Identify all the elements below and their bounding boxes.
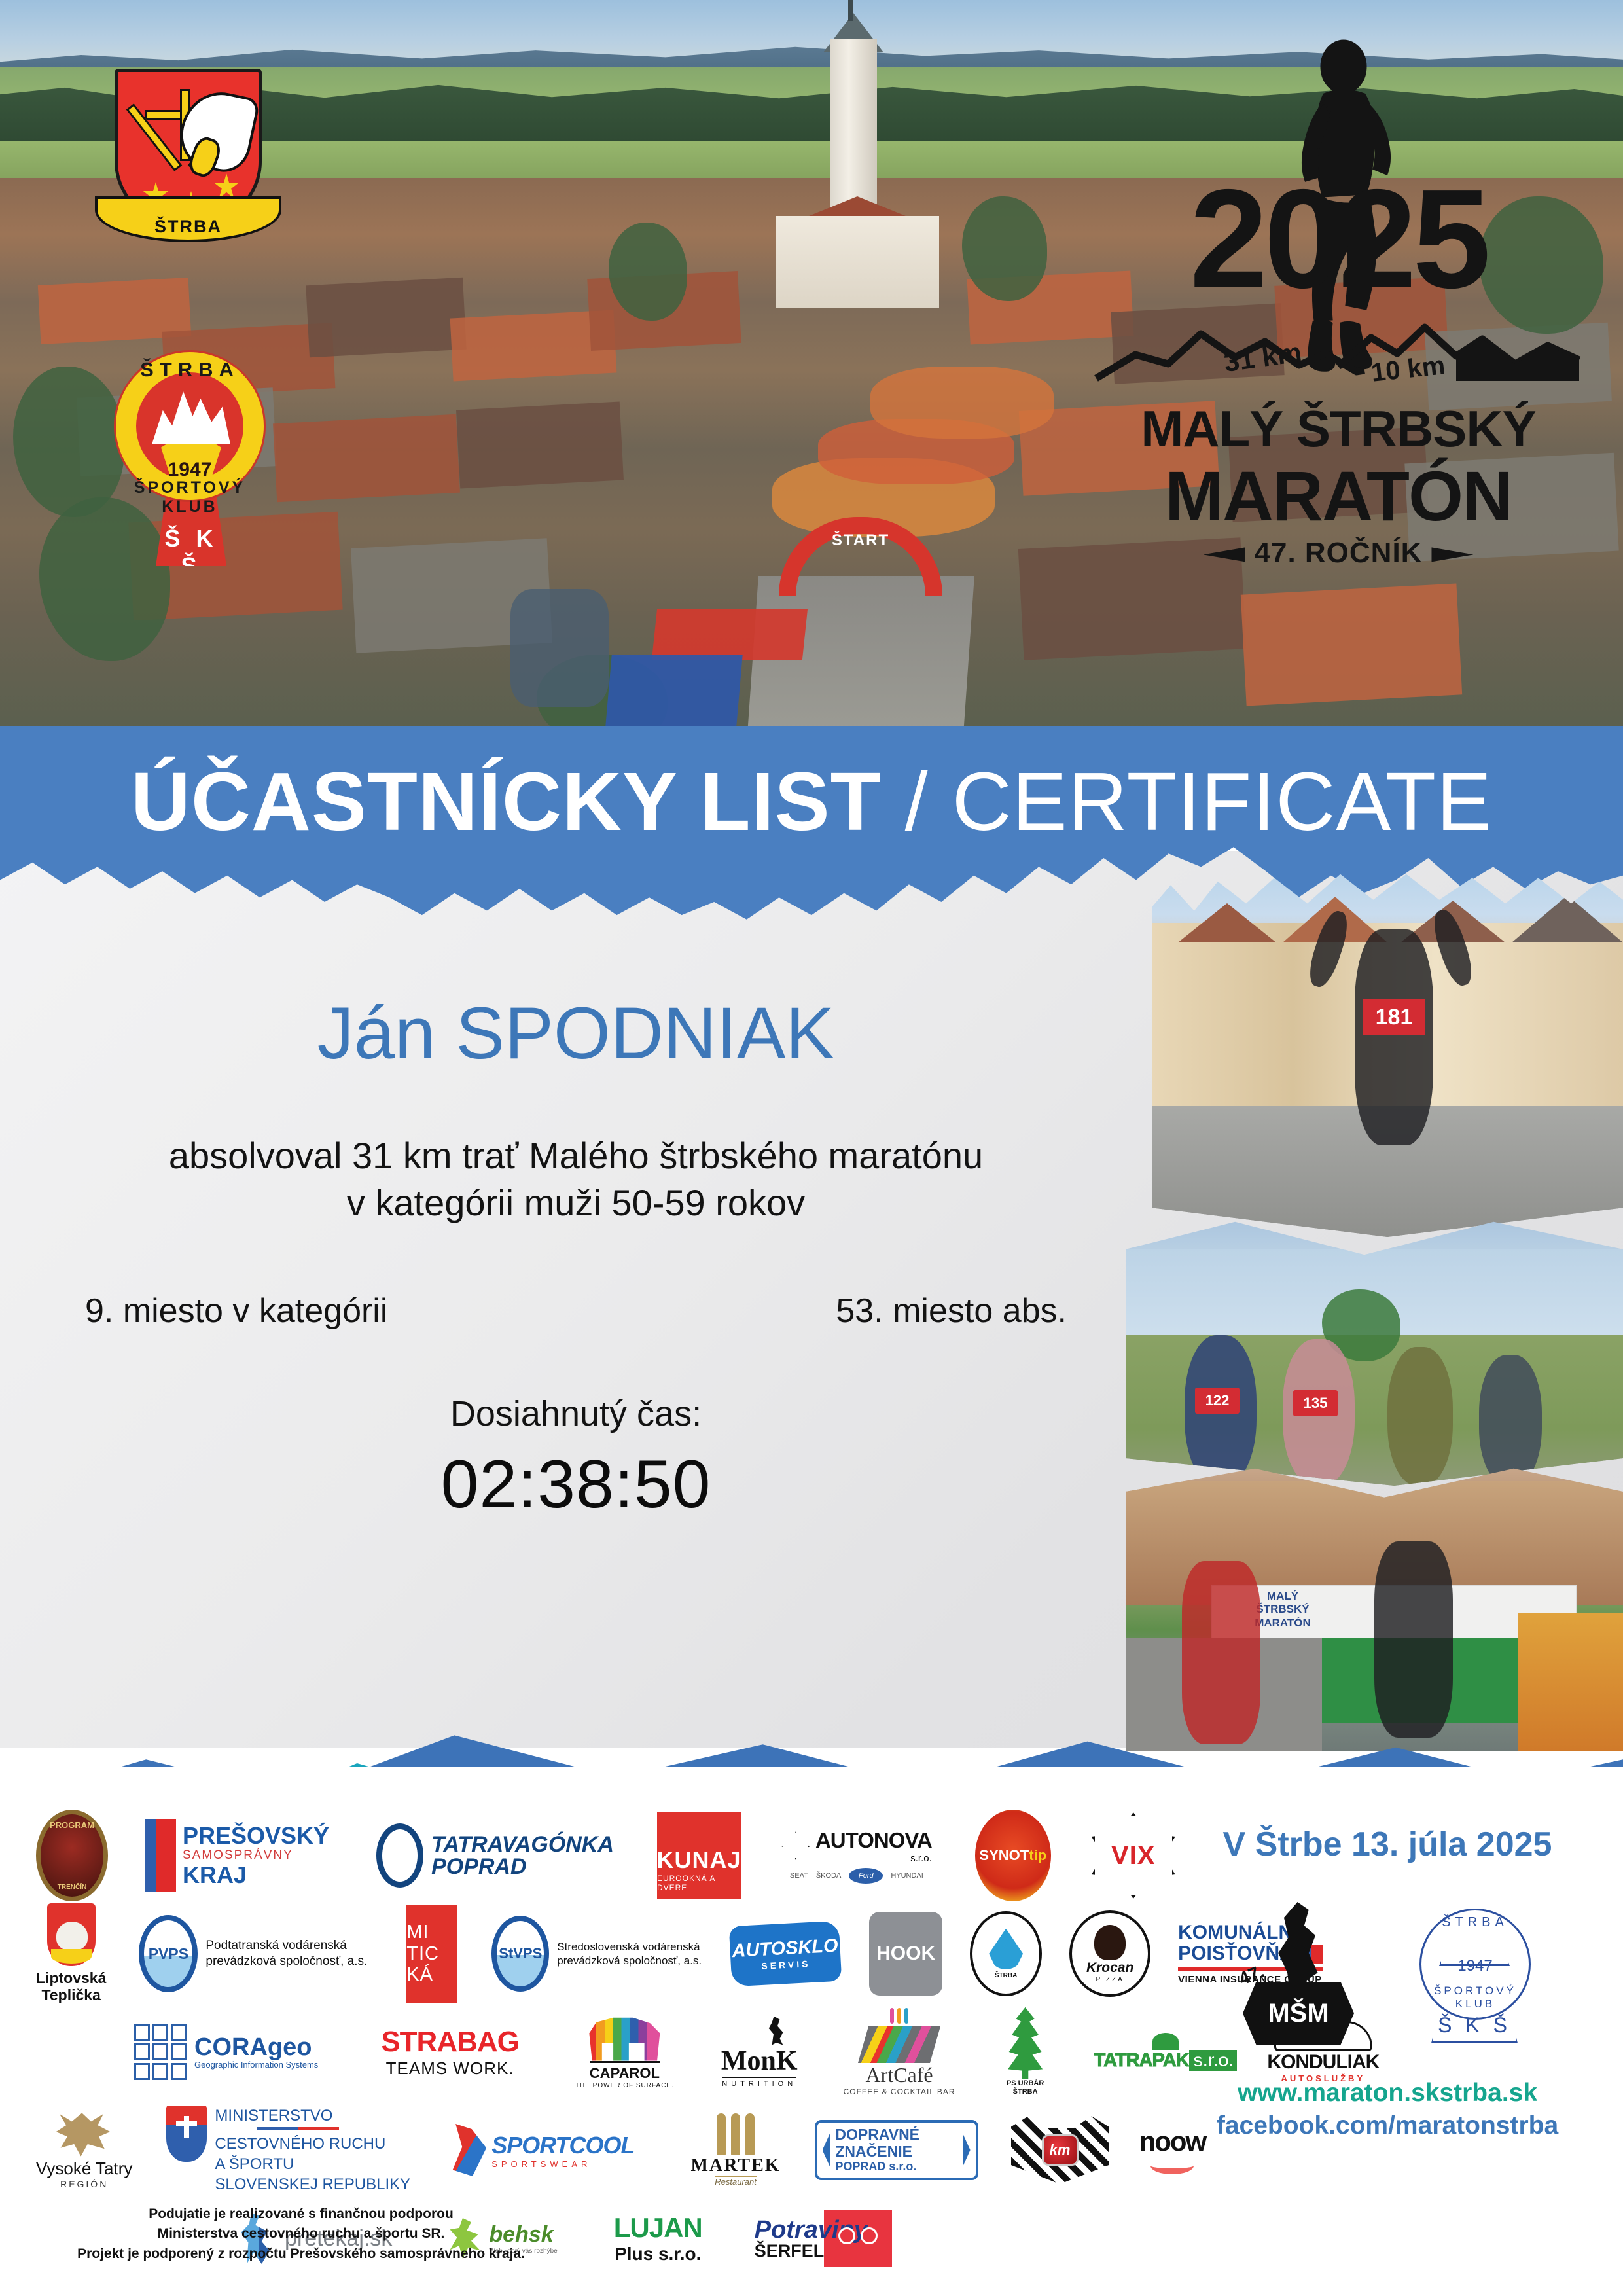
brand-line-2: MARATÓN <box>1083 455 1594 537</box>
start-gate-label: ŠTART <box>811 531 910 550</box>
footer-logo-pair: 47. MŠM ŠTRBA 1947 ŠPORTOVÝ KLUB Š K Š <box>1171 1901 1603 2047</box>
star-burst-icon <box>781 1831 810 1860</box>
msm-abbrev: MŠM <box>1243 1982 1354 2045</box>
swoosh-icon <box>450 2124 486 2176</box>
sponsor-sublabel: POPRAD <box>431 1856 614 1878</box>
sponsor-pd-strba[interactable]: ŠTRBA <box>970 1910 1042 1997</box>
steam-icon <box>890 2008 908 2024</box>
sponsor-label: AUTONOVA <box>815 1828 932 1853</box>
sponsor-sportcool[interactable]: SPORTCOOL SPORTSWEAR <box>450 2107 634 2193</box>
achievement-description: absolvoval 31 km trať Malého štrbského m… <box>39 1132 1113 1228</box>
sponsor-sublabel: Stredoslovenská vodárenská <box>557 1940 702 1954</box>
sponsor-vysoke-tatry-region[interactable]: Vysoké Tatry REGIÓN <box>36 2107 132 2193</box>
stamp-top-label: ŠTRBA <box>1419 1915 1531 1930</box>
crest-ribbon: ŠTRBA <box>95 196 281 242</box>
bib-number-secondary: 122 <box>1195 1388 1240 1414</box>
sponsor-label: PROGRAM <box>50 1820 94 1830</box>
achievement-line-2: v kategórii muži 50-59 rokov <box>39 1179 1113 1227</box>
certificate-content: Ján SPODNIAK absolvoval 31 km trať Maléh… <box>39 995 1113 1524</box>
sponsor-label: Vysoké Tatry <box>36 2159 132 2179</box>
sponsor-corageo[interactable]: CORAgeo Geographic Information Systems <box>134 2009 318 2095</box>
strba-coat-of-arms: ŠTRBA <box>115 69 262 259</box>
water-drop-icon <box>989 1929 1023 1969</box>
sponsor-sublabel: PIZZA <box>1096 1976 1124 1983</box>
sponsor-sublabel: ŠTRBA <box>995 1972 1017 1979</box>
footer-right-column: V Štrbe 13. júla 2025 47. MŠM ŠTRBA 1947… <box>1171 1825 1603 2140</box>
certificate-page: ŠTART ŠTRBA Š K Š <box>0 0 1623 2296</box>
placement-absolute: 53. miesto abs. <box>836 1291 1067 1331</box>
brand-edition-label: 47. ROČNÍK <box>1255 537 1423 569</box>
sponsor-lujan-plus[interactable]: LUJAN Plus s.r.o. <box>614 2202 702 2274</box>
sponsor-sublabel: THE POWER OF SURFACE. <box>575 2082 674 2089</box>
sponsor-sublabel: SERVIS <box>761 1958 811 1971</box>
sponsor-label: TATRAVAGÓNKA <box>431 1833 614 1856</box>
stamp-abbrev: Š K Š <box>1438 2013 1511 2041</box>
sponsor-program-trencin[interactable]: PROGRAM TRENČÍN <box>36 1812 108 1899</box>
club-logo-top-label: ŠTRBA <box>114 358 266 382</box>
title-secondary: CERTIFICATE <box>952 755 1492 848</box>
sponsor-label: CORAgeo <box>194 2035 318 2060</box>
sponsor-presovsky-kraj[interactable]: PREŠOVSKÝ SAMOSPRÁVNY KRAJ <box>145 1812 329 1899</box>
sponsor-sublabel: Geographic Information Systems <box>194 2060 318 2070</box>
sponsor-sublabel: ŠTRBA <box>1013 2088 1038 2096</box>
car-brand-skoda: ŠKODA <box>816 1872 842 1880</box>
sponsor-row: Vysoké Tatry REGIÓN MINISTERSTVO CESTOVN… <box>36 2101 1162 2199</box>
sponsor-ps-urbar-strba[interactable]: PS URBÁR ŠTRBA <box>1000 2009 1051 2095</box>
tree-icon <box>1000 2007 1051 2079</box>
club-logo-year: 1947 <box>136 459 243 481</box>
sponsor-label: MARTEK <box>691 2155 781 2176</box>
blue-tent <box>605 655 743 726</box>
sponsor-sublabel: NUTRITION <box>722 2077 796 2088</box>
pd-strba-seal: ŠTRBA <box>970 1911 1042 1996</box>
sponsor-strabag[interactable]: STRABAG TEAMS WORK. <box>381 2009 519 2095</box>
sponsor-sublabel: EUROOKNÁ A DVERE <box>657 1874 741 1892</box>
issue-date: V Štrbe 13. júla 2025 <box>1171 1825 1603 1864</box>
title-main: ÚČASTNÍCKY LIST <box>131 755 882 848</box>
support-note-line-2: Ministerstva cestovného ruchu a športu S… <box>72 2224 530 2244</box>
sponsor-sublabel: Restaurant <box>715 2176 757 2187</box>
time-label: Dosiahnutý čas: <box>39 1393 1113 1434</box>
club-logo-bottom-label: ŠPORTOVÝ KLUB <box>114 478 266 516</box>
arrow-left-icon <box>1204 547 1245 562</box>
sponsor-synottip[interactable]: SYNOTtip <box>975 1812 1051 1899</box>
sponsor-sublabel: REGIÓN <box>60 2179 108 2189</box>
car-brand-ford: Ford <box>849 1868 883 1884</box>
sponsor-label: DOPRAVNÉ ZNAČENIE <box>835 2126 957 2161</box>
sponsor-monk-nutrition[interactable]: MonK NUTRITION <box>721 2009 798 2095</box>
sponsor-caparol[interactable]: CAPAROL THE POWER OF SURFACE. <box>575 2009 674 2095</box>
church-body <box>776 216 939 308</box>
sponsor-label: km <box>1042 2134 1079 2166</box>
sponsor-kunaj[interactable]: KUNAJ EUROOKNÁ A DVERE <box>657 1812 741 1899</box>
sponsor-label: ArtCafé <box>866 2063 933 2087</box>
mountain-silhouette-icon <box>1090 308 1587 393</box>
sponsor-artcafe[interactable]: ArtCafé COFFEE & COCKTAIL BAR <box>844 2009 955 2095</box>
sponsor-vix[interactable]: VIX <box>1092 1812 1175 1899</box>
sponsor-sublabel: COFFEE & COCKTAIL BAR <box>844 2087 955 2096</box>
brand-line-1: MALÝ ŠTRBSKÝ <box>1083 399 1594 459</box>
sponsor-hook[interactable]: HOOK <box>869 1910 942 1997</box>
bib-number-tertiary: 135 <box>1293 1390 1338 1416</box>
sponsor-pvps[interactable]: PVPS Podtatranská vodárenská prevádzková… <box>139 1910 367 1997</box>
sponsor-label: AUTOSKLO <box>732 1935 839 1961</box>
sponsor-sublabel-2: KRAJ <box>183 1863 329 1888</box>
sponsor-label: VIX <box>1111 1841 1155 1871</box>
photo-collage: 181 122 135 MALÝ ŠTRBSKÝ MARATÓN <box>1113 870 1623 1715</box>
sponsor-row: PROGRAM TRENČÍN PREŠOVSKÝ SAMOSPRÁVNY KR… <box>36 1806 1162 1905</box>
sponsor-label: HOOK <box>869 1912 942 1996</box>
sponsor-sublabel: s.r.o. <box>815 1853 932 1864</box>
sponsor-liptovska-teplicka[interactable]: Liptovská Teplička <box>36 1910 106 1997</box>
bib-number: 181 <box>1363 999 1425 1035</box>
sponsor-sublabel: SAMOSPRÁVNY <box>183 1848 329 1863</box>
photo-trail-runners: 122 135 <box>1126 1211 1623 1486</box>
pvps-oval-icon: PVPS <box>139 1915 198 1992</box>
stamp-triangle: Š K Š <box>1431 1986 1518 2043</box>
car-brand-seat: SEAT <box>790 1872 808 1880</box>
sponsor-autosklo-servis[interactable]: AUTOSKLO SERVIS <box>730 1910 840 1997</box>
grid-icon <box>134 2024 187 2080</box>
sponsor-sublabel: TRENČÍN <box>58 1884 86 1891</box>
tatravagonka-oval-icon <box>376 1823 423 1888</box>
sponsor-label: Liptovská <box>36 1969 106 1986</box>
sponsor-label: STRABAG <box>381 2026 519 2058</box>
facebook-link[interactable]: facebook.com/maratonstrba <box>1171 2111 1603 2140</box>
cutlery-icon <box>717 2113 755 2155</box>
sponsor-label: LUJAN <box>614 2212 702 2244</box>
brand-edition: 47. ROČNÍK <box>1083 537 1594 569</box>
sponsor-sublabel: TEAMS WORK. <box>386 2058 514 2079</box>
sponsor-row: CORAgeo Geographic Information Systems S… <box>36 2003 1162 2101</box>
photo-finish-runner: 181 <box>1152 870 1623 1237</box>
sponsor-sublabel-2: prevádzková spoločnosť, a.s. <box>557 1954 702 1967</box>
liptovska-shield-icon <box>47 1903 96 1966</box>
achievement-line-1: absolvoval 31 km trať Malého štrbského m… <box>39 1132 1113 1180</box>
sponsor-sublabel: SPORTSWEAR <box>491 2159 634 2169</box>
support-note-line-3: Projekt je podporený z rozpočtu Prešovsk… <box>72 2244 530 2264</box>
dots-icon <box>838 2227 878 2244</box>
sponsor-km-motocentrum[interactable]: km <box>1011 2107 1109 2193</box>
msm-logo: 47. MŠM <box>1236 1902 1361 2046</box>
brand-year: 2025 <box>1083 177 1594 300</box>
title-separator: / <box>882 755 952 848</box>
church-spire <box>848 0 853 21</box>
support-note: Podujatie je realizované s finančnou pod… <box>72 2204 530 2264</box>
sponsor-potraviny-serfel[interactable]: Potraviny ŠERFEL <box>755 2202 892 2274</box>
placement-row: 9. miesto v kategórii 53. miesto abs. <box>39 1291 1113 1331</box>
elephant-icon <box>589 2015 660 2061</box>
red-tent <box>652 609 808 660</box>
sponsor-sublabel: ŠERFEL <box>755 2242 868 2260</box>
sponsor-miticka[interactable]: MI TIC KÁ <box>406 1910 457 1997</box>
placement-category: 9. miesto v kategórii <box>85 1291 387 1331</box>
sponsor-sublabel: POPRAD s.r.o. <box>835 2160 957 2174</box>
sponsor-martek-restaurant[interactable]: MARTEK Restaurant <box>691 2107 781 2193</box>
marathon-brand-lockup: 2025 31 km 10 km MALÝ ŠTRBSKÝ MARATÓN 47… <box>1083 46 1594 609</box>
checkered-flag-icon: km <box>1011 2116 1109 2184</box>
support-note-line-1: Podujatie je realizované s finančnou pod… <box>72 2204 530 2224</box>
sponsor-sublabel-3: SLOVENSKEJ REPUBLIKY <box>215 2174 410 2195</box>
sponsor-sublabel: Plus s.r.o. <box>615 2244 701 2265</box>
sponsor-sublabel: Podtatranská vodárenská <box>205 1938 367 1954</box>
sponsor-label: MonK <box>721 2045 798 2077</box>
page-title: ÚČASTNÍCKY LIST / CERTIFICATE <box>0 754 1623 849</box>
psk-flag-icon <box>145 1819 176 1892</box>
sponsor-dopravne-znacenie-poprad[interactable]: DOPRAVNÉ ZNAČENIE POPRAD s.r.o. <box>815 2107 978 2193</box>
sponsor-label: PS URBÁR <box>1007 2079 1044 2087</box>
sponsor-label: SPORTCOOL <box>491 2132 634 2159</box>
finish-time: 02:38:50 <box>39 1446 1113 1524</box>
sponsor-label: KUNAJ <box>656 1846 741 1874</box>
car-brand-hyundai: HYUNDAI <box>891 1872 923 1880</box>
sponsor-sublabel-2: prevádzková spoločnosť, a.s. <box>205 1954 367 1969</box>
crest-ribbon-label: ŠTRBA <box>154 217 222 240</box>
sponsor-stvps[interactable]: StVPS Stredoslovenská vodárenská prevádz… <box>491 1910 702 1997</box>
sponsor-label: MI TIC KÁ <box>406 1905 457 2003</box>
sks-stamp-logo: ŠTRBA 1947 ŠPORTOVÝ KLUB Š K Š <box>1408 1901 1539 2047</box>
hero-photo-village: ŠTART ŠTRBA Š K Š <box>0 0 1623 743</box>
website-link[interactable]: www.maraton.skstrba.sk <box>1171 2079 1603 2108</box>
arrow-right-icon <box>963 2133 971 2167</box>
club-logo-abbrev: Š K Š <box>156 525 226 580</box>
arrow-right-icon <box>1431 547 1473 562</box>
sponsor-sublabel: tip <box>1029 1847 1046 1863</box>
sponsor-footer: PROGRAM TRENČÍN PREŠOVSKÝ SAMOSPRÁVNY KR… <box>0 1767 1623 2296</box>
stvps-oval-icon: StVPS <box>491 1916 549 1992</box>
monk-figure-icon <box>766 2017 786 2045</box>
sponsor-krocan-pizza[interactable]: Krocan PIZZA <box>1069 1910 1150 1997</box>
sponsor-sublabel: Teplička <box>42 1986 101 2003</box>
sponsor-ministerstvo-sr[interactable]: MINISTERSTVO CESTOVNÉHO RUCHU A ŠPORTU S… <box>166 2107 410 2193</box>
sponsor-row: Liptovská Teplička PVPS Podtatranská vod… <box>36 1905 1162 2003</box>
slovak-coat-of-arms-icon <box>166 2106 207 2162</box>
participant-name: Ján SPODNIAK <box>39 995 1113 1072</box>
sponsor-label: MINISTERSTVO <box>215 2106 410 2126</box>
sponsor-tatravagonka-poprad[interactable]: TATRAVAGÓNKA POPRAD <box>376 1812 614 1899</box>
sports-club-logo: Š K Š ŠTRBA 1947 ŠPORTOVÝ KLUB <box>105 331 275 573</box>
coffee-cup-icon <box>858 2026 940 2063</box>
sponsor-label: SYNOT <box>979 1847 1029 1863</box>
smile-icon <box>1150 2157 1194 2174</box>
stamp-year: 1947 <box>1419 1957 1531 1975</box>
sponsor-autonova[interactable]: AUTONOVA s.r.o. SEAT ŠKODA Ford HYUNDAI <box>781 1812 932 1899</box>
sponsor-label: Krocan <box>1086 1960 1133 1976</box>
sponsor-label: StVPS <box>499 1945 542 1962</box>
arrow-left-icon <box>823 2133 830 2167</box>
sponsor-label: PVPS <box>149 1945 188 1963</box>
sponsor-label: PREŠOVSKÝ <box>183 1823 329 1848</box>
turkey-icon <box>1094 1925 1126 1960</box>
chamois-icon <box>56 2111 113 2159</box>
sponsor-label: CAPAROL <box>590 2061 660 2082</box>
sponsor-sublabel-2: A ŠPORTU <box>215 2154 410 2174</box>
sponsor-sublabel: CESTOVNÉHO RUCHU <box>215 2134 410 2154</box>
